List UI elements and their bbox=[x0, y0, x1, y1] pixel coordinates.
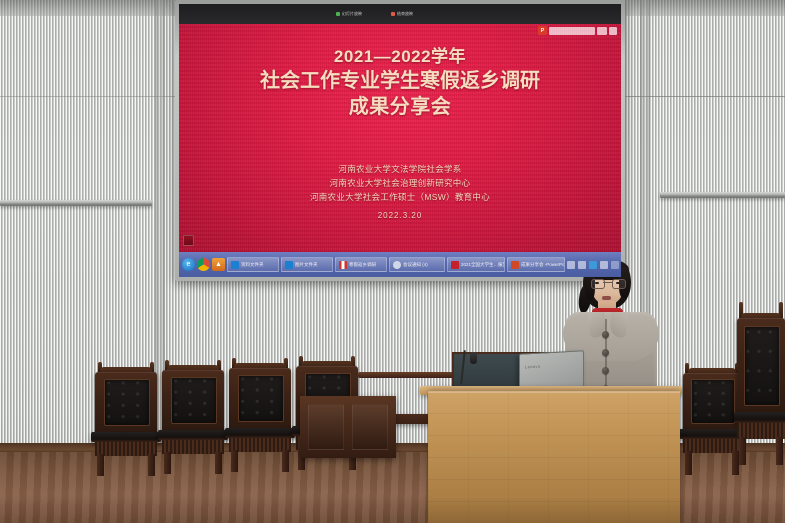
slide-date: 2022.3.20 bbox=[179, 209, 621, 223]
taskbar-window-label-2: 寒假返乡调研 bbox=[349, 262, 376, 268]
presenter-view-strip-3 bbox=[609, 27, 617, 35]
presenter-eye-right bbox=[616, 282, 620, 284]
taskbar-window-label-1: 图片文件夹 bbox=[295, 262, 318, 268]
media-player-icon[interactable]: ▲ bbox=[212, 258, 225, 271]
wall-handrail-left bbox=[0, 200, 152, 206]
chair-back-cushion bbox=[104, 379, 150, 426]
cabinet-panel-right bbox=[352, 404, 388, 450]
chair-right-1 bbox=[683, 373, 741, 468]
chair-leg-right bbox=[776, 437, 783, 465]
chair-seat bbox=[734, 412, 785, 423]
folder-icon bbox=[231, 261, 239, 269]
status-dot-icon bbox=[336, 12, 340, 16]
taskbar-window-label-0: 资料文件夹 bbox=[241, 262, 264, 268]
presenter-view-strip-2 bbox=[597, 27, 607, 35]
chair-seat bbox=[158, 430, 228, 440]
clock-icon[interactable] bbox=[611, 261, 619, 269]
chair-leg-left bbox=[685, 451, 692, 475]
taskbar-window-label-5: 成果分享会 -PowerPoint… bbox=[521, 262, 565, 268]
windows-taskbar[interactable]: e ▲ 资料文件夹 图片文件夹 寒假返乡调研 会议通知 (4) bbox=[179, 252, 621, 277]
chair-2 bbox=[162, 370, 224, 465]
presenter-coat-button-2 bbox=[602, 349, 609, 356]
powerpoint-slide: 2021—2022学年 社会工作专业学生寒假返乡调研 成果分享会 河南农业大学文… bbox=[179, 24, 621, 252]
slide-title-block: 2021—2022学年 社会工作专业学生寒假返乡调研 成果分享会 bbox=[179, 46, 621, 120]
chair-seat bbox=[91, 432, 161, 442]
presenter-eye-left bbox=[595, 282, 599, 284]
wall-seam-mid bbox=[628, 96, 785, 97]
browser-window-icon bbox=[393, 261, 401, 269]
slide-corner-badge-icon bbox=[183, 235, 194, 246]
folder-icon-2 bbox=[285, 261, 293, 269]
glasses-lens-right bbox=[612, 279, 626, 289]
powerpoint-taskbar-icon bbox=[511, 261, 519, 269]
slideshow-toolbar-label-1: 结束放映 bbox=[397, 11, 413, 17]
volume-icon[interactable] bbox=[578, 261, 586, 269]
podium-wood-grain bbox=[428, 391, 680, 523]
slideshow-toolbar-item-0[interactable]: 幻灯片放映 bbox=[334, 10, 382, 18]
projection-screen-display[interactable]: 幻灯片放映 结束放映 2021—2022学年 社会工作专业学生寒假返乡调研 成果… bbox=[179, 4, 621, 277]
slide-title-line-3: 成果分享会 bbox=[179, 94, 621, 120]
glasses-bridge bbox=[603, 282, 612, 283]
pdf-icon bbox=[451, 261, 459, 269]
chair-leg-right bbox=[282, 450, 289, 472]
wall-handrail-right bbox=[660, 192, 785, 198]
slide-subtitle-line-2: 河南农业大学社会治理创新研究中心 bbox=[179, 176, 621, 190]
input-method-icon[interactable] bbox=[589, 261, 597, 269]
slide-subtitle-line-1: 河南农业大学文法学院社会学系 bbox=[179, 162, 621, 176]
chair-leg-left bbox=[231, 450, 238, 472]
network-icon[interactable] bbox=[567, 261, 575, 269]
stop-dot-icon bbox=[391, 12, 395, 16]
slide-subtitle-line-3: 河南农业大学社会工作硕士（MSW）教育中心 bbox=[179, 190, 621, 204]
chair-leg-right bbox=[215, 452, 222, 474]
chair-leg-right bbox=[148, 454, 155, 476]
taskbar-window-explorer-1[interactable]: 资料文件夹 bbox=[227, 257, 279, 272]
speaker-podium bbox=[428, 391, 680, 523]
chair-back-cushion bbox=[238, 375, 284, 422]
slideshow-toolbar-label-0: 幻灯片放映 bbox=[342, 11, 362, 17]
powerpoint-icon: P bbox=[538, 26, 547, 35]
battery-icon[interactable] bbox=[600, 261, 608, 269]
cabinet-panel-left bbox=[308, 404, 344, 450]
presenter-view-strip bbox=[549, 27, 595, 35]
taskbar-window-explorer-2[interactable]: 图片文件夹 bbox=[281, 257, 333, 272]
projection-screen-frame: 幻灯片放映 结束放映 2021—2022学年 社会工作专业学生寒假返乡调研 成果… bbox=[175, 0, 625, 281]
chrome-icon[interactable] bbox=[197, 258, 210, 271]
taskbar-window-browser[interactable]: 会议通知 (4) bbox=[389, 257, 445, 272]
podium-microphone-head bbox=[470, 352, 477, 364]
chair-1 bbox=[95, 372, 157, 467]
slide-title-line-2: 社会工作专业学生寒假返乡调研 bbox=[179, 68, 621, 94]
taskbar-window-wps-pdf[interactable]: 2021全国大学生…报告 bbox=[447, 257, 505, 272]
slide-title-line-1: 2021—2022学年 bbox=[179, 46, 621, 68]
chair-seat bbox=[225, 428, 295, 438]
taskbar-window-powerpoint[interactable]: 成果分享会 -PowerPoint… bbox=[507, 257, 565, 272]
slide-subtitle-block: 河南农业大学文法学院社会学系 河南农业大学社会治理创新研究中心 河南农业大学社会… bbox=[179, 162, 621, 223]
slideshow-toolbar-item-1[interactable]: 结束放映 bbox=[389, 10, 433, 18]
chair-seat bbox=[679, 429, 745, 439]
presenter-view-flag[interactable]: P bbox=[538, 26, 617, 35]
slideshow-toolbar[interactable]: 幻灯片放映 结束放映 bbox=[179, 4, 621, 24]
taskbar-window-label-3: 会议通知 (4) bbox=[403, 262, 428, 268]
chair-leg-left bbox=[739, 437, 746, 465]
presenter-coat-button-3 bbox=[602, 367, 609, 374]
system-tray[interactable] bbox=[567, 261, 621, 269]
presenter-coat-button-1 bbox=[602, 331, 609, 338]
chair-back-cushion bbox=[691, 379, 735, 424]
chair-leg-left bbox=[97, 454, 104, 476]
laptop-brand-label: Lenovo bbox=[525, 364, 541, 370]
chair-leg-left bbox=[164, 452, 171, 474]
chair-back-cushion bbox=[171, 377, 217, 424]
taskbar-window-label-4: 2021全国大学生…报告 bbox=[461, 262, 505, 268]
side-cabinet bbox=[300, 396, 396, 458]
presenter-glasses-icon bbox=[591, 279, 624, 287]
taskbar-window-wps[interactable]: 寒假返乡调研 bbox=[335, 257, 387, 272]
wps-document-icon bbox=[339, 261, 347, 269]
glasses-lens-left bbox=[591, 279, 605, 289]
presenter-mouth bbox=[602, 296, 611, 300]
chair-3 bbox=[229, 368, 291, 463]
chair-back-cushion bbox=[744, 326, 780, 406]
chair-right-2 bbox=[737, 318, 785, 458]
lecture-hall-photo: 幻灯片放映 结束放映 2021—2022学年 社会工作专业学生寒假返乡调研 成果… bbox=[0, 0, 785, 523]
ie-browser-icon[interactable]: e bbox=[182, 258, 195, 271]
